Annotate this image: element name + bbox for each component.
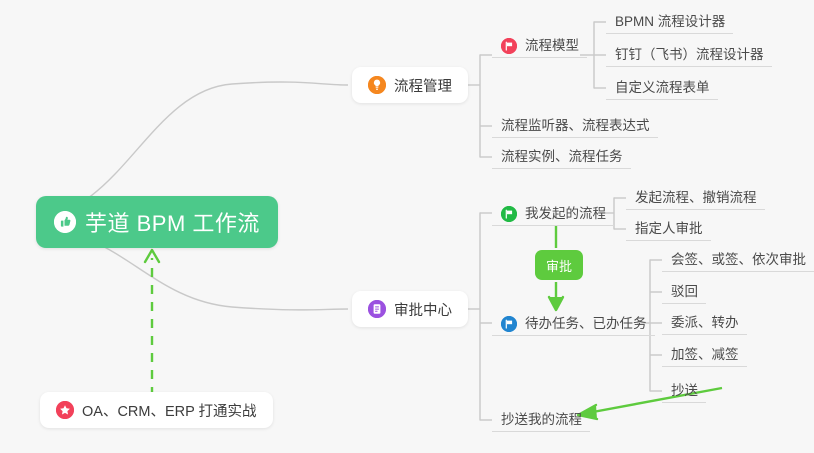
- root-node[interactable]: 芋道 BPM 工作流: [36, 196, 278, 248]
- bottom-note-label: OA、CRM、ERP 打通实战: [82, 400, 257, 421]
- node-label: 流程模型: [525, 34, 579, 54]
- leaf-custom-form[interactable]: 自定义流程表单: [606, 74, 718, 100]
- leaf-process-instance[interactable]: 流程实例、流程任务: [492, 143, 631, 169]
- leaf-delegate-transfer[interactable]: 委派、转办: [662, 309, 747, 335]
- leaf-dingtalk-designer[interactable]: 钉钉（飞书）流程设计器: [606, 41, 772, 67]
- flag-icon: [501, 206, 517, 222]
- leaf-assignee-approval[interactable]: 指定人审批: [626, 215, 711, 241]
- lightbulb-icon: [368, 76, 386, 94]
- leaf-process-listener[interactable]: 流程监听器、流程表达式: [492, 112, 658, 138]
- leaf-label: 流程实例、流程任务: [501, 145, 623, 165]
- leaf-label: BPMN 流程设计器: [615, 10, 725, 30]
- leaf-label: 钉钉（飞书）流程设计器: [615, 43, 764, 63]
- leaf-label: 会签、或签、依次审批: [671, 248, 806, 268]
- flag-icon: [501, 316, 517, 332]
- flag-icon: [501, 38, 517, 54]
- leaf-label: 指定人审批: [635, 217, 703, 237]
- branch-label: 流程管理: [394, 75, 452, 96]
- branch-node-process-management[interactable]: 流程管理: [352, 67, 468, 103]
- leaf-label: 抄送我的流程: [501, 408, 582, 428]
- leaf-carbon-copy[interactable]: 抄送: [662, 377, 706, 403]
- leaf-label: 驳回: [671, 280, 698, 300]
- leaf-label: 流程监听器、流程表达式: [501, 114, 650, 134]
- leaf-add-remove-sign[interactable]: 加签、减签: [662, 341, 747, 367]
- leaf-start-cancel-process[interactable]: 发起流程、撤销流程: [626, 184, 765, 210]
- leaf-reject[interactable]: 驳回: [662, 278, 706, 304]
- leaf-label: 加签、减签: [671, 343, 739, 363]
- leaf-label: 发起流程、撤销流程: [635, 186, 757, 206]
- leaf-label: 自定义流程表单: [615, 76, 710, 96]
- leaf-multi-approval[interactable]: 会签、或签、依次审批: [662, 246, 814, 272]
- approval-badge: 审批: [535, 250, 583, 280]
- bottom-note-node[interactable]: OA、CRM、ERP 打通实战: [40, 392, 273, 428]
- branch-node-approval-center[interactable]: 审批中心: [352, 291, 468, 327]
- node-my-initiated-process[interactable]: 我发起的流程: [492, 200, 614, 226]
- leaf-label: 抄送: [671, 379, 698, 399]
- approval-badge-label: 审批: [546, 256, 572, 275]
- edge-bottom-note-to-root: [145, 250, 159, 396]
- node-label: 我发起的流程: [525, 202, 606, 222]
- clipboard-icon: [368, 300, 386, 318]
- root-label: 芋道 BPM 工作流: [85, 206, 260, 238]
- thumbs-up-icon: [54, 211, 76, 233]
- leaf-cc-my-process[interactable]: 抄送我的流程: [492, 406, 590, 432]
- star-icon: [56, 401, 74, 419]
- branch-label: 审批中心: [394, 299, 452, 320]
- leaf-bpmn-designer[interactable]: BPMN 流程设计器: [606, 8, 733, 34]
- leaf-label: 委派、转办: [671, 311, 739, 331]
- node-todo-done-tasks[interactable]: 待办任务、已办任务: [492, 310, 655, 336]
- node-label: 待办任务、已办任务: [525, 312, 647, 332]
- node-process-model[interactable]: 流程模型: [492, 32, 587, 58]
